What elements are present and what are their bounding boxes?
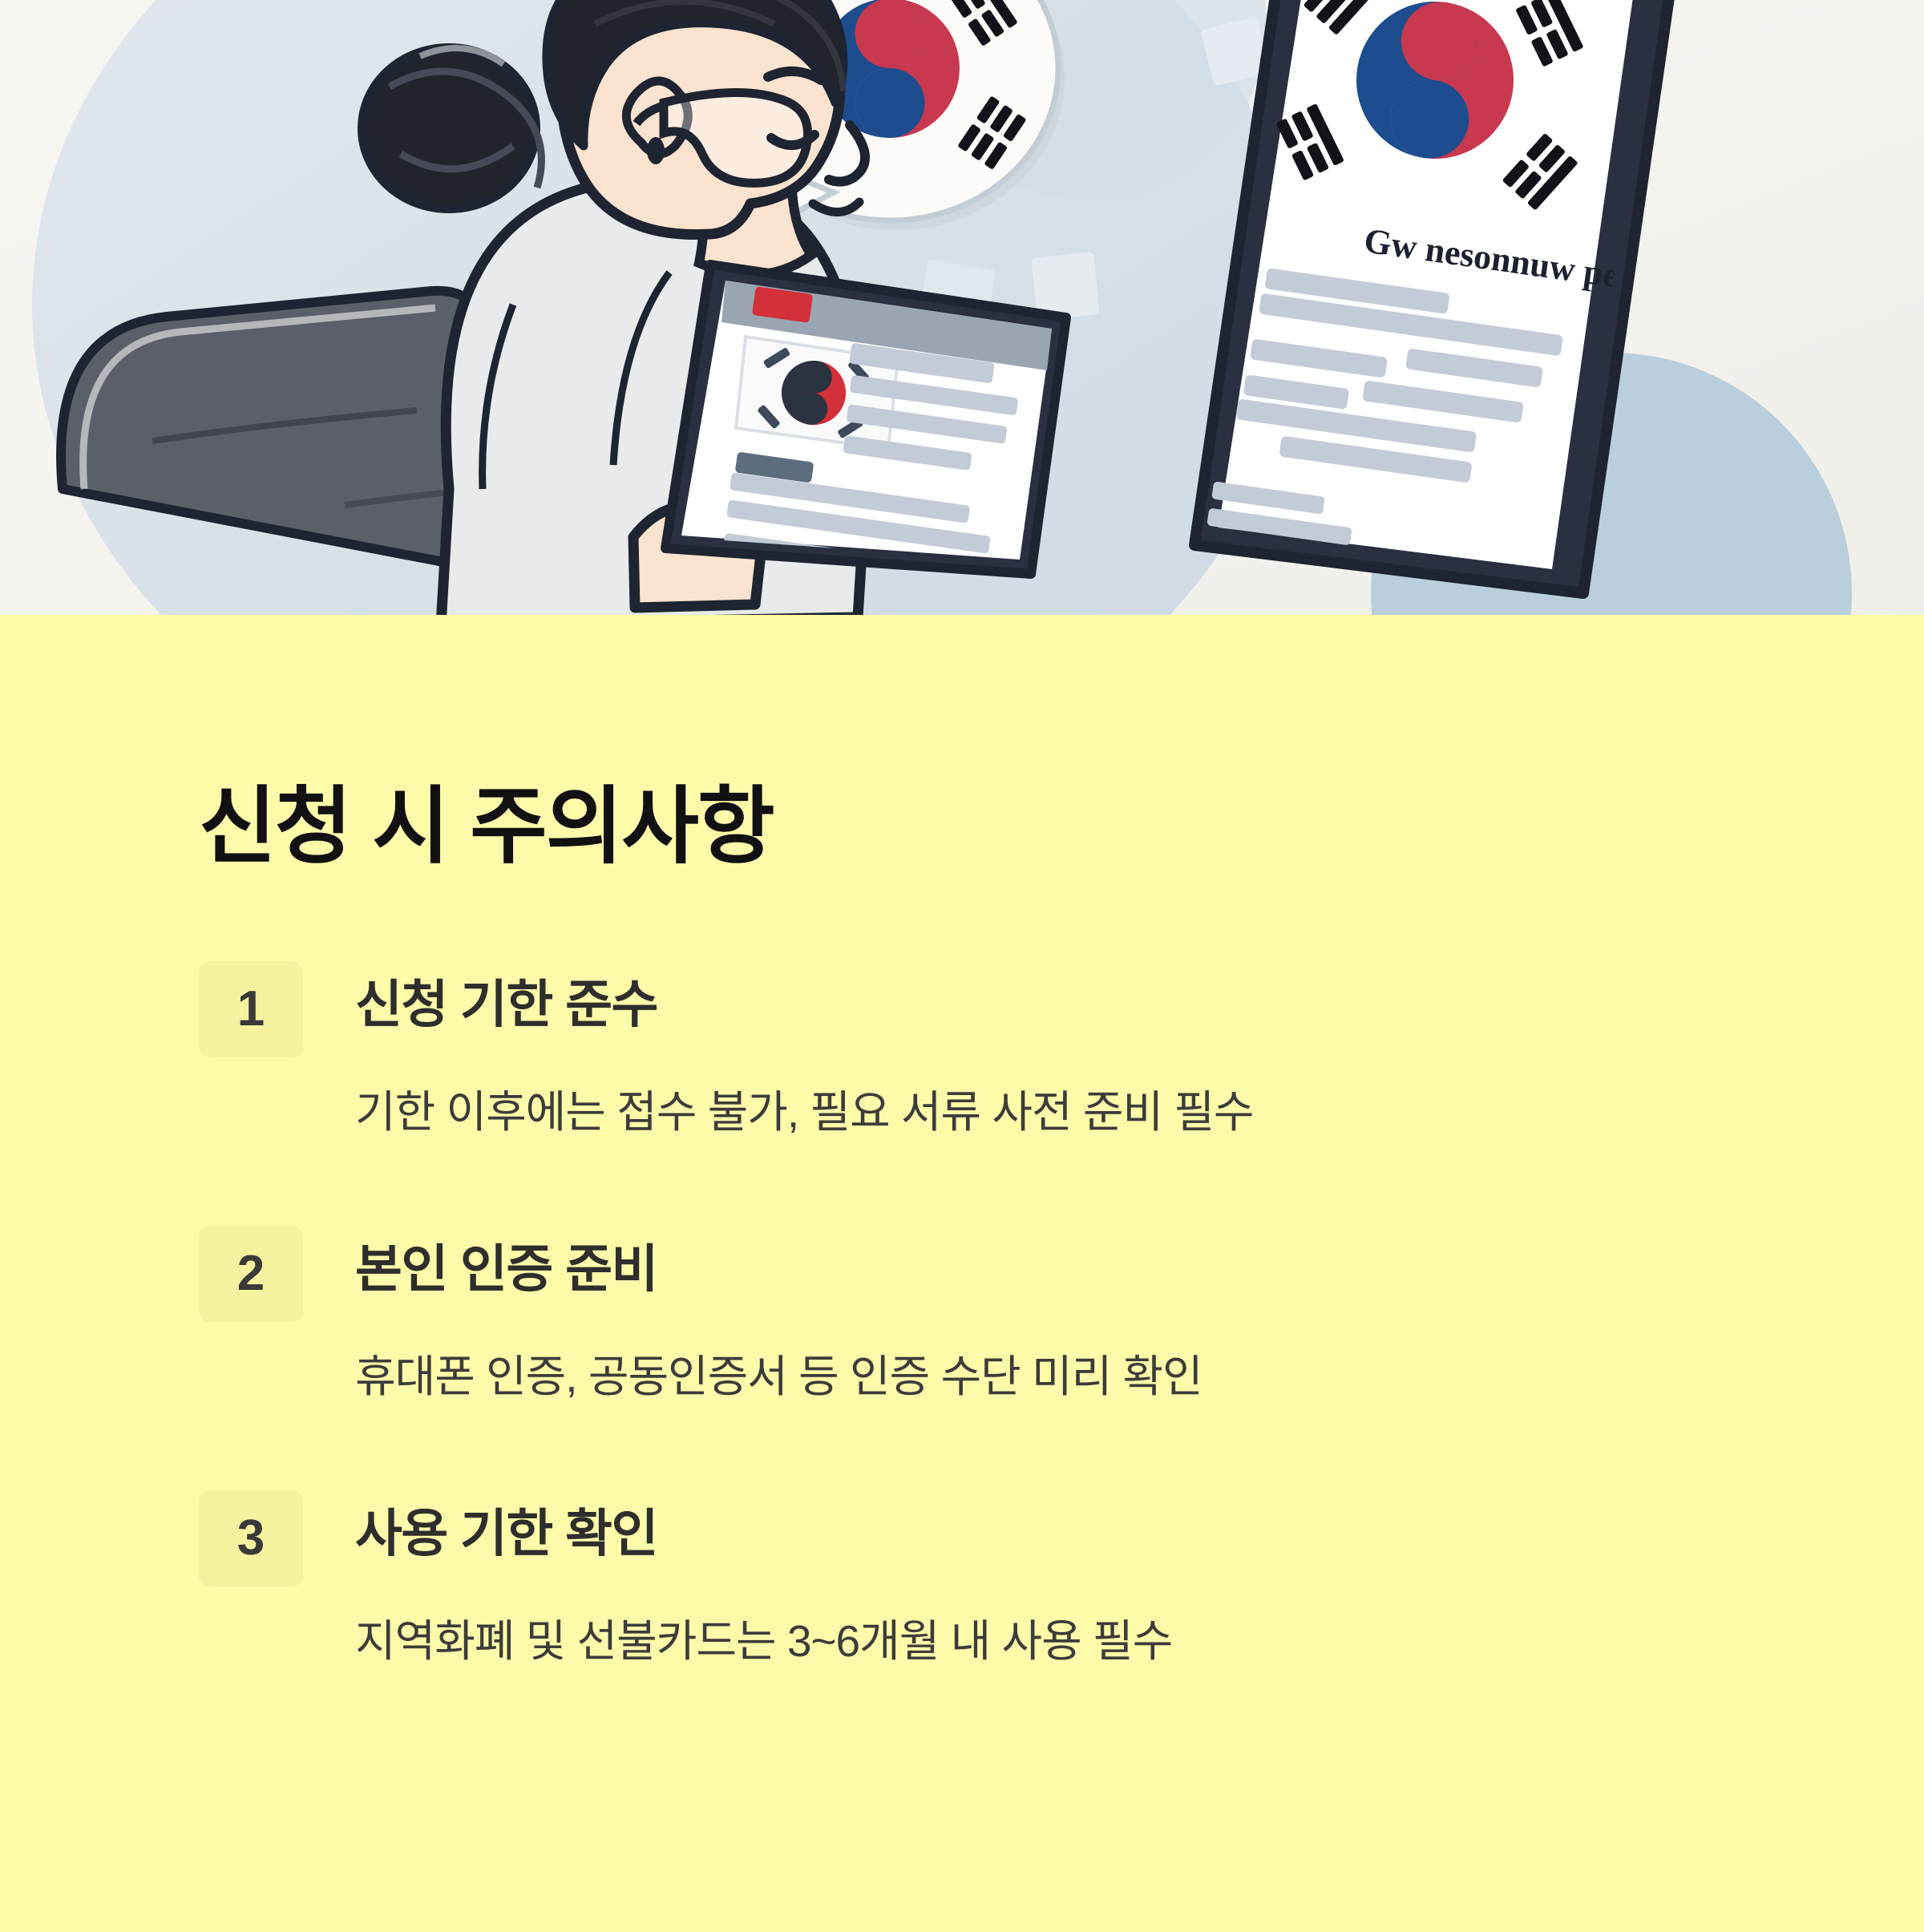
list-item: 3 사용 기한 확인 지역화폐 및 선불카드는 3~6개월 내 사용 필수 [0, 1479, 1924, 1744]
page-title: 신청 시 주의사항 [199, 782, 774, 872]
tablet-device [665, 265, 1066, 578]
hero-illustration-svg: Gw nesonnuw peking [0, 0, 1924, 615]
notice-number-1: 1 [237, 984, 265, 1034]
notice-number-2: 2 [237, 1249, 265, 1299]
notice-desc-3: 지역화폐 및 선불카드는 3~6개월 내 사용 필수 [355, 1611, 1172, 1671]
notice-desc-2: 휴대폰 인증, 공동인증서 등 인증 수단 미리 확인 [355, 1347, 1202, 1406]
notice-title-2: 본인 인증 준비 [355, 1239, 657, 1300]
notice-list: 1 신청 기한 준수 기한 이후에는 접수 불가, 필요 서류 사전 준비 필수… [0, 950, 1924, 1744]
notice-desc-1: 기한 이후에는 접수 불가, 필요 서류 사전 준비 필수 [355, 1082, 1254, 1142]
infographic-card: Gw nesonnuw peking [0, 0, 1924, 1932]
notice-number-badge-1: 1 [199, 961, 303, 1057]
notice-number-badge-3: 3 [199, 1490, 303, 1586]
notice-title-1: 신청 기한 준수 [355, 974, 657, 1036]
notice-number-badge-2: 2 [199, 1226, 303, 1322]
hero-illustration: Gw nesonnuw peking [0, 0, 1924, 615]
notice-title-3: 사용 기한 확인 [355, 1503, 657, 1565]
list-item: 2 본인 인증 준비 휴대폰 인증, 공동인증서 등 인증 수단 미리 확인 [0, 1215, 1924, 1479]
list-item: 1 신청 기한 준수 기한 이후에는 접수 불가, 필요 서류 사전 준비 필수 [0, 950, 1924, 1215]
notice-number-3: 3 [237, 1514, 265, 1563]
notice-panel: 신청 시 주의사항 1 신청 기한 준수 기한 이후에는 접수 불가, 필요 서… [0, 615, 1924, 1932]
hair-bun [362, 48, 541, 208]
